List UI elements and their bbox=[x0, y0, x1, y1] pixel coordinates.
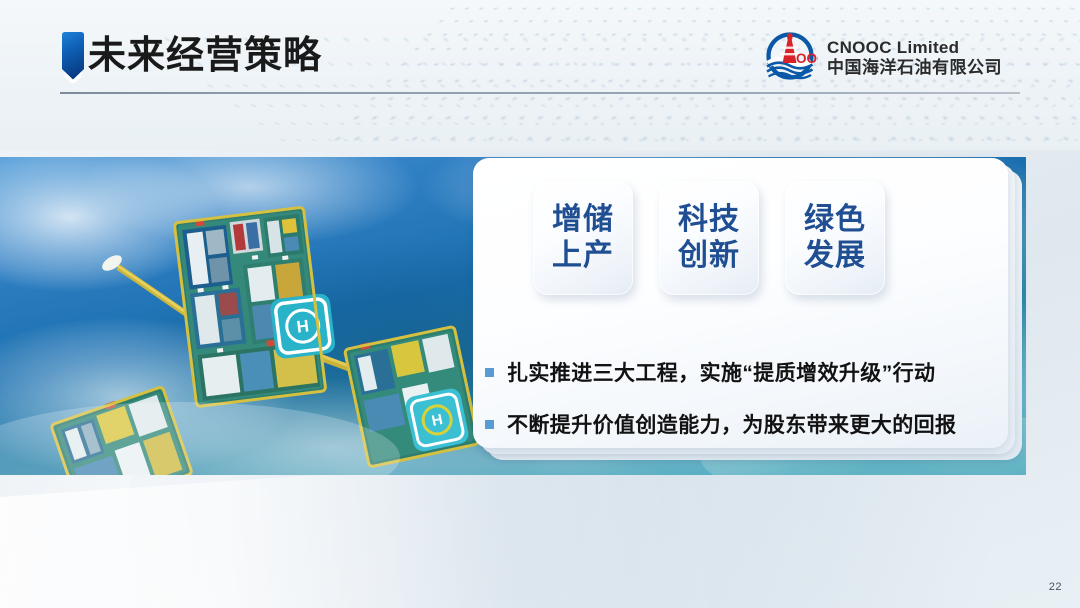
bullet-value-creation: 不断提升价值创造能力，为股东带来更大的回报 bbox=[481, 398, 1008, 448]
bullet-three-major-projects: 扎实推进三大工程，实施“提质增效升级”行动 bbox=[481, 346, 1008, 398]
card-line-1: 增储 bbox=[552, 202, 614, 238]
bullet-text: 扎实推进三大工程，实施“提质增效升级”行动 bbox=[507, 357, 935, 387]
svg-text:H: H bbox=[296, 316, 311, 336]
card-reserves-production[interactable]: 增储 上产 bbox=[533, 181, 633, 295]
card-line-1: 科技 bbox=[678, 202, 740, 238]
bullet-text: 不断提升价值创造能力，为股东带来更大的回报 bbox=[507, 409, 956, 439]
square-bullet-icon bbox=[485, 368, 494, 377]
card-line-2: 上产 bbox=[552, 238, 614, 274]
logo-chinese-name: 中国海洋石油有限公司 bbox=[827, 58, 1002, 78]
card-technology-innovation[interactable]: 科技 创新 bbox=[659, 181, 759, 295]
card-green-development[interactable]: 绿色 发展 bbox=[785, 181, 885, 295]
content-panel: 增储 上产 科技 创新 绿色 发展 扎实推进三大工程，实施“提质增效升级”行动 … bbox=[473, 158, 1008, 448]
card-line-2: 创新 bbox=[678, 238, 740, 274]
title-divider bbox=[60, 92, 1020, 94]
logo-english-name: CNOOC Limited bbox=[827, 38, 1002, 58]
square-bullet-icon bbox=[485, 420, 494, 429]
bullet-list: 扎实推进三大工程，实施“提质增效升级”行动 不断提升价值创造能力，为股东带来更大… bbox=[481, 346, 1008, 448]
cnooc-logo-icon: OOC bbox=[762, 30, 818, 86]
card-line-1: 绿色 bbox=[804, 202, 866, 238]
page-number: 22 bbox=[1049, 581, 1062, 593]
cnooc-logo: OOC CNOOC Limited 中国海洋石油有限公司 bbox=[762, 30, 1002, 86]
keyword-card-group: 增储 上产 科技 创新 绿色 发展 bbox=[533, 181, 885, 295]
page-title: 未来经营策略 bbox=[88, 33, 322, 79]
svg-text:OOC: OOC bbox=[796, 51, 818, 66]
bookmark-shield-icon bbox=[59, 31, 87, 83]
slide-root: 未来经营策略 OOC CNOOC Limited 中国海洋石油有限公司 bbox=[0, 0, 1080, 608]
card-line-2: 发展 bbox=[804, 238, 866, 274]
